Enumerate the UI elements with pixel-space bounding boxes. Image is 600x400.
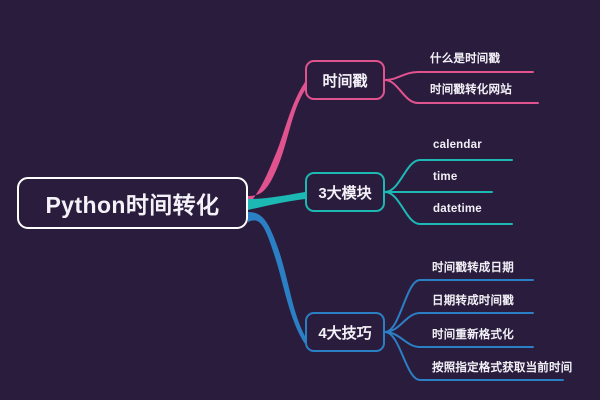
leaf-node-calendar[interactable]: calendar [433, 139, 482, 151]
branch-node-skills[interactable]: 4大技巧 [305, 312, 385, 352]
leaf-label: 什么是时间戳 [430, 53, 500, 65]
leaf-node-date-to-timestamp[interactable]: 日期转成时间戳 [432, 292, 514, 308]
leaf-label: datetime [433, 203, 482, 215]
branch-node-timestamp[interactable]: 时间戳 [305, 60, 385, 100]
connector-root-to-skills [248, 212, 305, 344]
leaf-node-timestamp-converter-site[interactable]: 时间戳转化网站 [430, 81, 512, 97]
leaf-label: 日期转成时间戳 [432, 295, 514, 307]
connector-root-to-timestamp [248, 82, 305, 206]
branch-node-skills-label: 4大技巧 [318, 322, 371, 343]
leaf-label: calendar [433, 139, 482, 151]
leaf-node-what-is-timestamp[interactable]: 什么是时间戳 [430, 50, 500, 66]
leaf-label: time [433, 171, 457, 183]
leaf-label: 按照指定格式获取当前时间 [432, 362, 572, 374]
leaf-label: 时间重新格式化 [432, 329, 514, 341]
branch-node-timestamp-label: 时间戳 [322, 70, 367, 91]
root-node[interactable]: Python时间转化 [17, 177, 248, 229]
root-node-label: Python时间转化 [46, 186, 220, 220]
leaf-node-time[interactable]: time [433, 171, 457, 183]
leaf-label: 时间戳转成日期 [432, 262, 514, 274]
branch-node-modules-label: 3大模块 [318, 182, 371, 203]
mindmap-canvas: Python时间转化 时间戳 3大模块 4大技巧 什么是时间戳 时间戳转化网站 … [0, 0, 600, 400]
leaf-node-reformat-time[interactable]: 时间重新格式化 [432, 326, 514, 342]
branch-node-modules[interactable]: 3大模块 [305, 172, 385, 212]
leaf-node-current-time-custom-format[interactable]: 按照指定格式获取当前时间 [432, 359, 572, 375]
leaf-node-datetime[interactable]: datetime [433, 203, 482, 215]
leaf-node-timestamp-to-date[interactable]: 时间戳转成日期 [432, 259, 514, 275]
connector-timestamp-leaf-1 [385, 72, 533, 80]
leaf-label: 时间戳转化网站 [430, 84, 512, 96]
